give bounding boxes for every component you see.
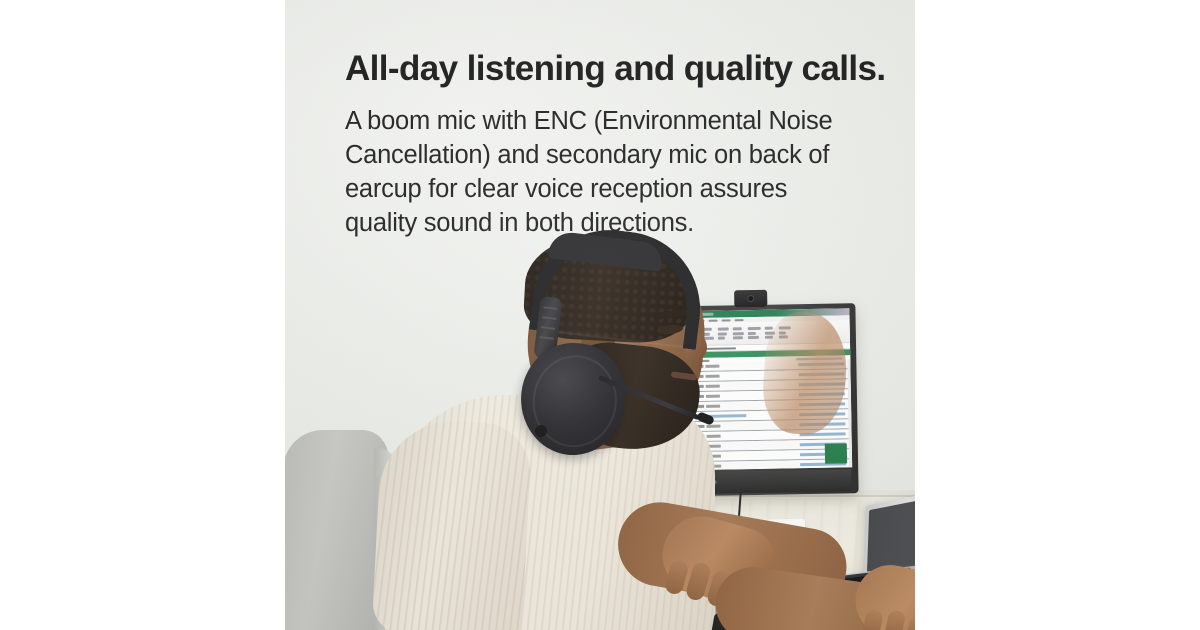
seated-person — [385, 225, 755, 630]
shirt-sleeve — [371, 417, 532, 630]
copy-block: All-day listening and quality calls. A b… — [345, 48, 865, 241]
photo-stage: All-day listening and quality calls. A b… — [285, 0, 915, 630]
body-paragraph: A boom mic with ENC (Environmental Noise… — [345, 105, 865, 241]
headline: All-day listening and quality calls. — [345, 48, 865, 89]
boom-mic-capsule — [696, 411, 715, 426]
status-block — [825, 443, 847, 463]
ad-banner: All-day listening and quality calls. A b… — [0, 0, 1200, 630]
